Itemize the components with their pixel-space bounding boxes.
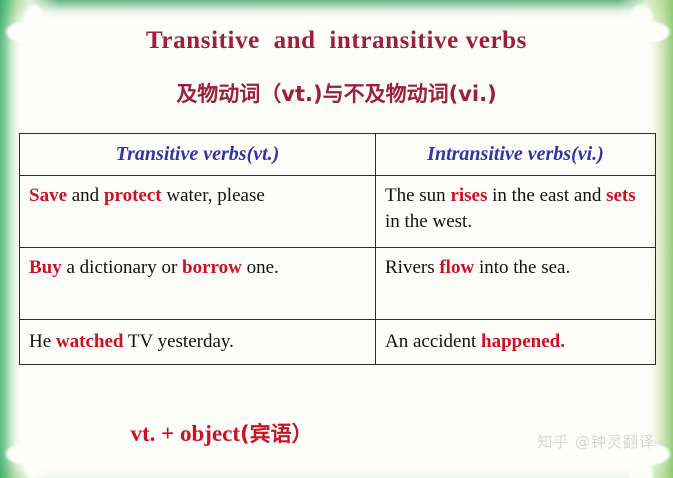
highlighted-verb: Save <box>29 185 67 206</box>
sentence-text: one. <box>242 257 279 278</box>
highlighted-verb: Buy <box>29 257 62 278</box>
sentence-text: He <box>29 331 56 352</box>
highlighted-verb: happened. <box>481 331 565 352</box>
cell-transitive-example-2: Buy a dictionary or borrow one. <box>20 248 376 320</box>
table-header-row: Transitive verbs(vt.) Intransitive verbs… <box>20 134 656 176</box>
slide-subtitle-chinese: 及物动词（vt.)与不及物动词(vi.) <box>0 78 673 108</box>
cell-intransitive-example-3: An accident happened. <box>376 320 656 365</box>
table-row: He watched TV yesterday. An accident hap… <box>20 320 656 365</box>
table-row: Buy a dictionary or borrow one. Rivers f… <box>20 248 656 320</box>
column-header-transitive: Transitive verbs(vt.) <box>20 134 376 176</box>
watermark-zhihu: 知乎 @钟灵翻译 <box>537 431 655 452</box>
slide-content: Transitive and intransitive verbs 及物动词（v… <box>0 0 673 478</box>
cell-transitive-example-3: He watched TV yesterday. <box>20 320 376 365</box>
highlighted-verb: borrow <box>182 257 242 278</box>
table-body: Transitive verbs(vt.) Intransitive verbs… <box>20 134 656 365</box>
sentence-text: and <box>67 185 104 206</box>
cell-transitive-example-1: Save and protect water, please <box>20 176 376 248</box>
sentence-text: in the east and <box>487 185 606 206</box>
footer-formula-main: vt. + object <box>131 421 241 446</box>
sentence-text: The sun <box>385 185 450 206</box>
sentence-text: into the sea. <box>474 257 570 278</box>
sentence-text: in the west. <box>385 211 472 232</box>
sentence-text: water, please <box>162 185 265 206</box>
highlighted-verb: protect <box>104 185 162 206</box>
highlighted-verb: rises <box>450 185 487 206</box>
sentence-text: Rivers <box>385 257 439 278</box>
column-header-intransitive: Intransitive verbs(vi.) <box>376 134 656 176</box>
footer-formula-chinese: (宾语） <box>240 422 313 446</box>
slide-canvas: Transitive and intransitive verbs 及物动词（v… <box>0 0 673 478</box>
cell-intransitive-example-1: The sun rises in the east and sets in th… <box>376 176 656 248</box>
highlighted-verb: watched <box>56 331 124 352</box>
sentence-text: a dictionary or <box>62 257 182 278</box>
cell-intransitive-example-2: Rivers flow into the sea. <box>376 248 656 320</box>
table-row: Save and protect water, please The sun r… <box>20 176 656 248</box>
sentence-text: TV yesterday. <box>123 331 233 352</box>
slide-title: Transitive and intransitive verbs <box>0 27 673 55</box>
sentence-text: An accident <box>385 331 481 352</box>
verbs-comparison-table: Transitive verbs(vt.) Intransitive verbs… <box>19 133 656 365</box>
highlighted-verb: flow <box>439 257 474 278</box>
footer-formula-note: vt. + object(宾语） <box>96 392 313 474</box>
highlighted-verb: sets <box>606 185 636 206</box>
